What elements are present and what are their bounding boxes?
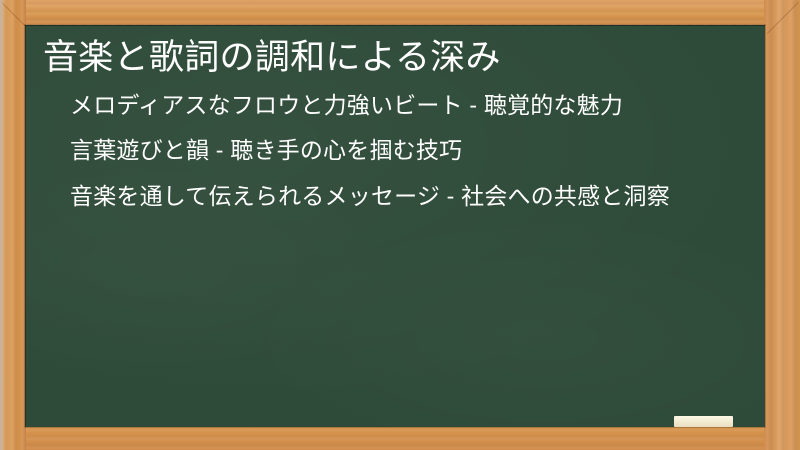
frame-rail-bottom bbox=[0, 426, 800, 450]
list-item: 音楽を通して伝えられるメッセージ - 社会への共感と洞察 bbox=[70, 181, 718, 213]
chalk-stick-icon bbox=[674, 416, 733, 427]
frame-rail-left bbox=[0, 0, 26, 450]
outer-edge-strip bbox=[0, 0, 3, 450]
frame-rail-top bbox=[0, 0, 800, 24]
frame-rail-right bbox=[764, 0, 800, 450]
slide-content: 音楽と歌詞の調和による深み メロディアスなフロウと力強いビート - 聴覚的な魅力… bbox=[25, 25, 765, 427]
list-item: メロディアスなフロウと力強いビート - 聴覚的な魅力 bbox=[70, 90, 718, 122]
chalkboard-slide: 音楽と歌詞の調和による深み メロディアスなフロウと力強いビート - 聴覚的な魅力… bbox=[0, 0, 800, 450]
bullet-list: メロディアスなフロウと力強いビート - 聴覚的な魅力 言葉遊びと韻 - 聴き手の… bbox=[43, 90, 741, 213]
page-title: 音楽と歌詞の調和による深み bbox=[43, 37, 741, 80]
chalkboard-surface: 音楽と歌詞の調和による深み メロディアスなフロウと力強いビート - 聴覚的な魅力… bbox=[25, 25, 765, 427]
list-item: 言葉遊びと韻 - 聴き手の心を掴む技巧 bbox=[70, 135, 718, 167]
